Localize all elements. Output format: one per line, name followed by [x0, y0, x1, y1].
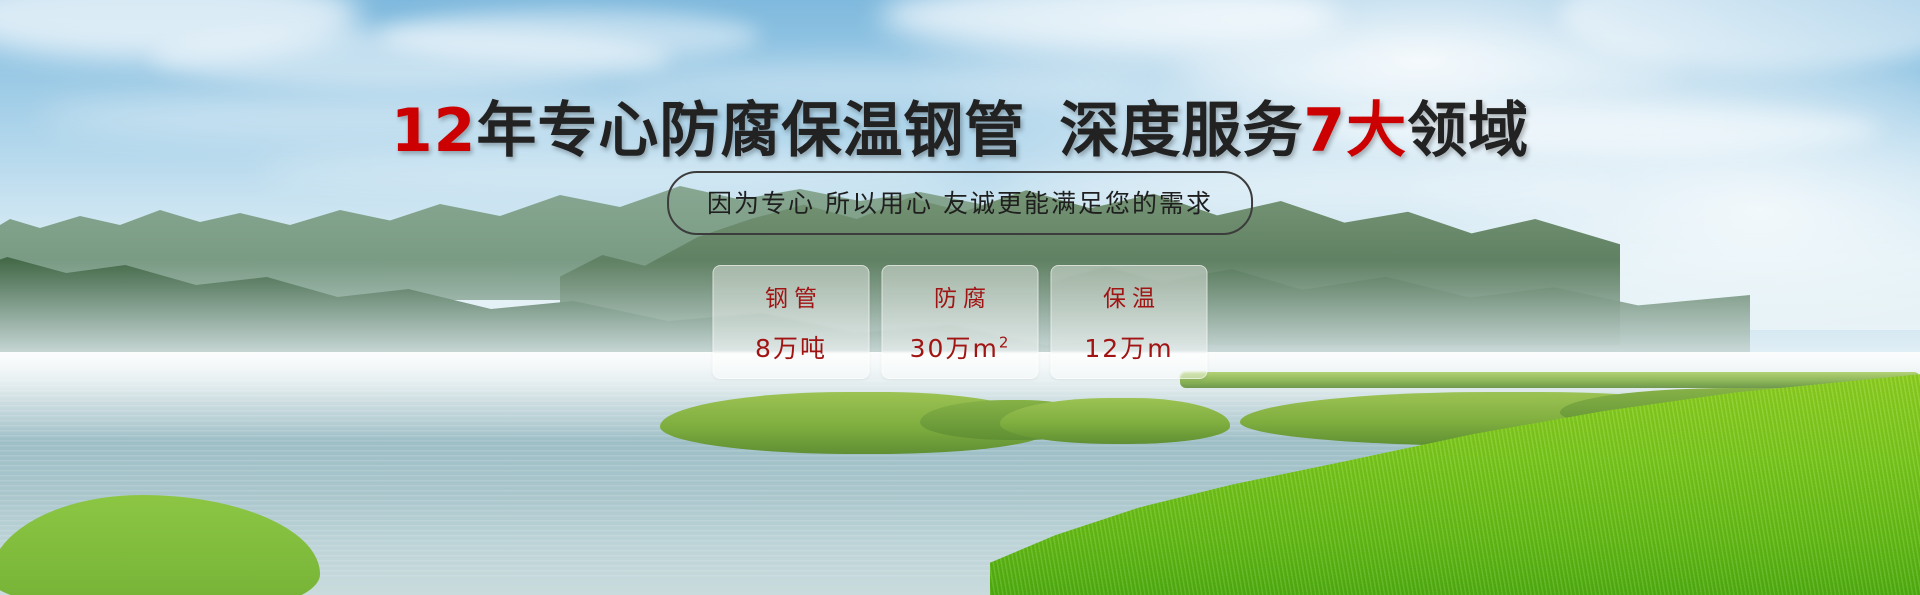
hero-banner: 12年专心防腐保温钢管深度服务7大领域 因为专心 所以用心 友诚更能满足您的需求…: [0, 0, 1920, 595]
page-title: 12年专心防腐保温钢管深度服务7大领域: [0, 82, 1920, 169]
headline-text-main: 年专心防腐保温钢管: [476, 96, 1025, 166]
subtitle-pill: 因为专心 所以用心 友诚更能满足您的需求: [667, 171, 1253, 235]
stat-card-group: 钢管 8万吨 防腐 30万m2 保温 12万m: [713, 265, 1208, 379]
stat-card-insulation[interactable]: 保温 12万m: [1051, 265, 1208, 379]
headline-text-domain: 领域: [1407, 96, 1529, 166]
stat-card-title: 保温: [1097, 279, 1161, 313]
stat-card-value: 8万吨: [755, 329, 827, 365]
stat-card-value: 12万m: [1084, 329, 1173, 365]
stat-card-title: 钢管: [759, 279, 823, 313]
marsh-island-left: [1000, 398, 1230, 444]
headline-text-service: 深度服务: [1059, 96, 1303, 166]
headline-accent-fields: 7大: [1303, 96, 1407, 166]
stat-card-steel-pipe[interactable]: 钢管 8万吨: [713, 265, 870, 379]
stat-card-value: 30万m2: [910, 329, 1011, 365]
stat-card-value-text: 12万m: [1084, 334, 1173, 363]
headline-accent-years: 12: [391, 96, 477, 166]
stat-card-anticorrosion[interactable]: 防腐 30万m2: [882, 265, 1039, 379]
stat-card-title: 防腐: [928, 279, 992, 313]
stat-card-unit-exponent: 2: [999, 334, 1011, 352]
stat-card-value-text: 30万m: [910, 334, 999, 363]
stat-card-value-text: 8万吨: [755, 334, 827, 363]
cloud-shape: [380, 10, 760, 62]
